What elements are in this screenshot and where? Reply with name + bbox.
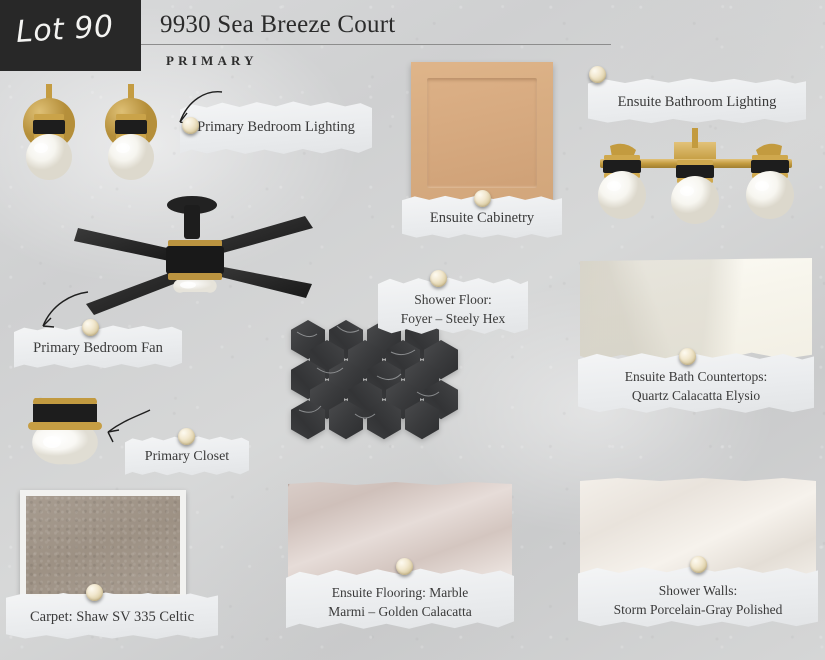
label-ensuite-flooring: Ensuite Flooring: Marble Marmi – Golden …	[286, 568, 514, 630]
cabinet-door-sample	[411, 62, 553, 204]
label-line: Primary Closet	[135, 447, 239, 467]
carpet-fill	[26, 496, 180, 594]
four-blade-ceiling-fan	[72, 188, 322, 318]
label-line: Ensuite Cabinetry	[412, 208, 552, 229]
gold-pin	[182, 117, 199, 134]
label-line: Foyer – Steely Hex	[388, 309, 518, 328]
label-line: Storm Porcelain-Gray Polished	[588, 600, 808, 619]
quartz-slab-sample	[580, 258, 812, 362]
gold-pin	[178, 428, 195, 445]
label-primary-bedroom-lighting: Primary Bedroom Lighting	[180, 101, 372, 155]
mood-board: Lot 90 9930 Sea Breeze Court PRIMARY	[0, 0, 825, 660]
lot-badge: Lot 90	[0, 0, 141, 71]
label-line: Marmi – Golden Calacatta	[296, 602, 504, 621]
label-line: Carpet: Shaw SV 335 Celtic	[16, 607, 208, 628]
three-light-vanity-bar	[574, 118, 818, 224]
hex-mosaic-tile	[287, 318, 483, 454]
label-primary-bedroom-fan: Primary Bedroom Fan	[14, 325, 182, 369]
flush-mount-ceiling-light	[18, 388, 112, 472]
label-ensuite-bath-countertops: Ensuite Bath Countertops: Quartz Calacat…	[578, 352, 814, 414]
label-line: Ensuite Bathroom Lighting	[598, 92, 796, 113]
label-line: Quartz Calacatta Elysio	[588, 386, 804, 405]
label-line: Primary Bedroom Lighting	[190, 117, 362, 138]
label-line: Ensuite Bath Countertops:	[588, 367, 804, 386]
gold-pin	[679, 348, 696, 365]
gold-pin	[690, 556, 707, 573]
gold-pin	[430, 270, 447, 287]
label-line: Shower Walls:	[588, 581, 808, 600]
label-line: Primary Bedroom Fan	[24, 338, 172, 359]
label-shower-walls: Shower Walls: Storm Porcelain-Gray Polis…	[578, 566, 818, 628]
lot-badge-label: Lot 90	[15, 9, 115, 50]
header-divider	[141, 44, 611, 45]
gold-pin	[82, 319, 99, 336]
label-carpet: Carpet: Shaw SV 335 Celtic	[6, 592, 218, 640]
room-subtitle: PRIMARY	[166, 53, 258, 69]
gold-pin	[86, 584, 103, 601]
gold-pin	[474, 190, 491, 207]
wall-sconce-right	[96, 84, 166, 180]
label-ensuite-bathroom-lighting: Ensuite Bathroom Lighting	[588, 78, 806, 124]
cabinet-door-panel	[427, 78, 537, 188]
label-shower-floor: Shower Floor: Foyer – Steely Hex	[378, 277, 528, 335]
gold-pin	[589, 66, 606, 83]
carpet-swatch	[20, 490, 186, 600]
page-title: 9930 Sea Breeze Court	[160, 11, 395, 39]
label-line: Ensuite Flooring: Marble	[296, 583, 504, 602]
wall-sconce-left	[14, 84, 84, 180]
gold-pin	[396, 558, 413, 575]
label-line: Shower Floor:	[388, 290, 518, 309]
